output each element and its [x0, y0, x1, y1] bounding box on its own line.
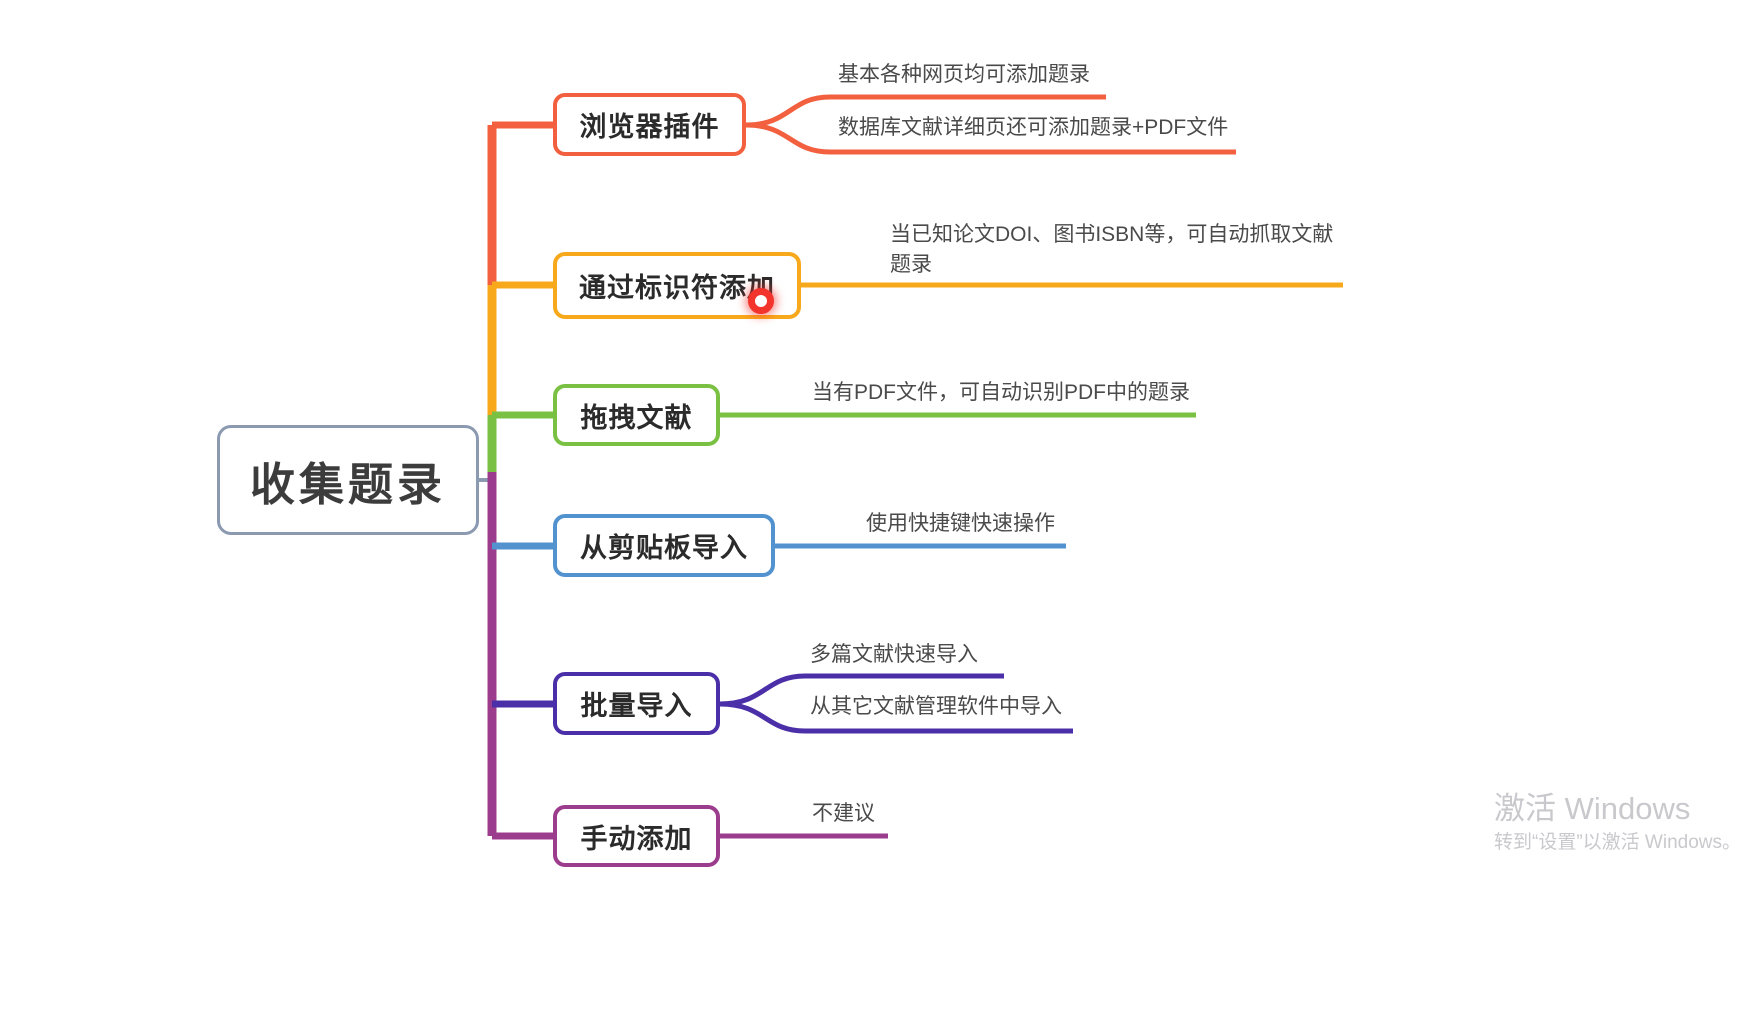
branch-node-label: 从剪贴板导入	[580, 526, 748, 565]
branch-node-browser-plugin[interactable]: 浏览器插件	[553, 93, 746, 156]
branch-node-drag-document[interactable]: 拖拽文献	[553, 384, 720, 446]
windows-activation-watermark: 激活 Windows 转到“设置”以激活 Windows。	[1494, 792, 1741, 855]
branch-node-manual-add[interactable]: 手动添加	[553, 805, 720, 867]
branch-node-import-from-clipboard[interactable]: 从剪贴板导入	[553, 514, 775, 577]
leaf-label-batch-import-2: 从其它文献管理软件中导入	[810, 692, 1062, 722]
branch-node-batch-import[interactable]: 批量导入	[553, 672, 720, 735]
mouse-cursor-ring-icon	[748, 288, 774, 314]
watermark-title: 激活 Windows	[1494, 792, 1741, 826]
leaf-label-import-from-clipboard-1: 使用快捷键快速操作	[866, 509, 1055, 539]
leaf-label-add-by-identifier-1: 当已知论文DOI、图书ISBN等，可自动抓取文献 题录	[890, 220, 1360, 281]
leaf-label-browser-plugin-1: 基本各种网页均可添加题录	[838, 60, 1090, 90]
branch-node-label: 通过标识符添加	[579, 266, 775, 305]
branch-node-label: 手动添加	[581, 817, 693, 856]
branch-node-label: 浏览器插件	[580, 105, 720, 144]
root-node-label: 收集题录	[250, 448, 446, 513]
mindmap-canvas: 收集题录 浏览器插件 基本各种网页均可添加题录 数据库文献详细页还可添加题录+P…	[0, 0, 1763, 1018]
leaf-label-browser-plugin-2: 数据库文献详细页还可添加题录+PDF文件	[838, 113, 1228, 143]
branch-node-label: 拖拽文献	[581, 396, 693, 435]
leaf-label-batch-import-1: 多篇文献快速导入	[810, 640, 978, 670]
root-node-collect-records[interactable]: 收集题录	[217, 425, 479, 535]
leaf-label-drag-document-1: 当有PDF文件，可自动识别PDF中的题录	[812, 378, 1190, 408]
leaf-label-manual-add-1: 不建议	[812, 799, 875, 829]
watermark-subtitle: 转到“设置”以激活 Windows。	[1494, 832, 1741, 855]
branch-node-label: 批量导入	[581, 684, 693, 723]
